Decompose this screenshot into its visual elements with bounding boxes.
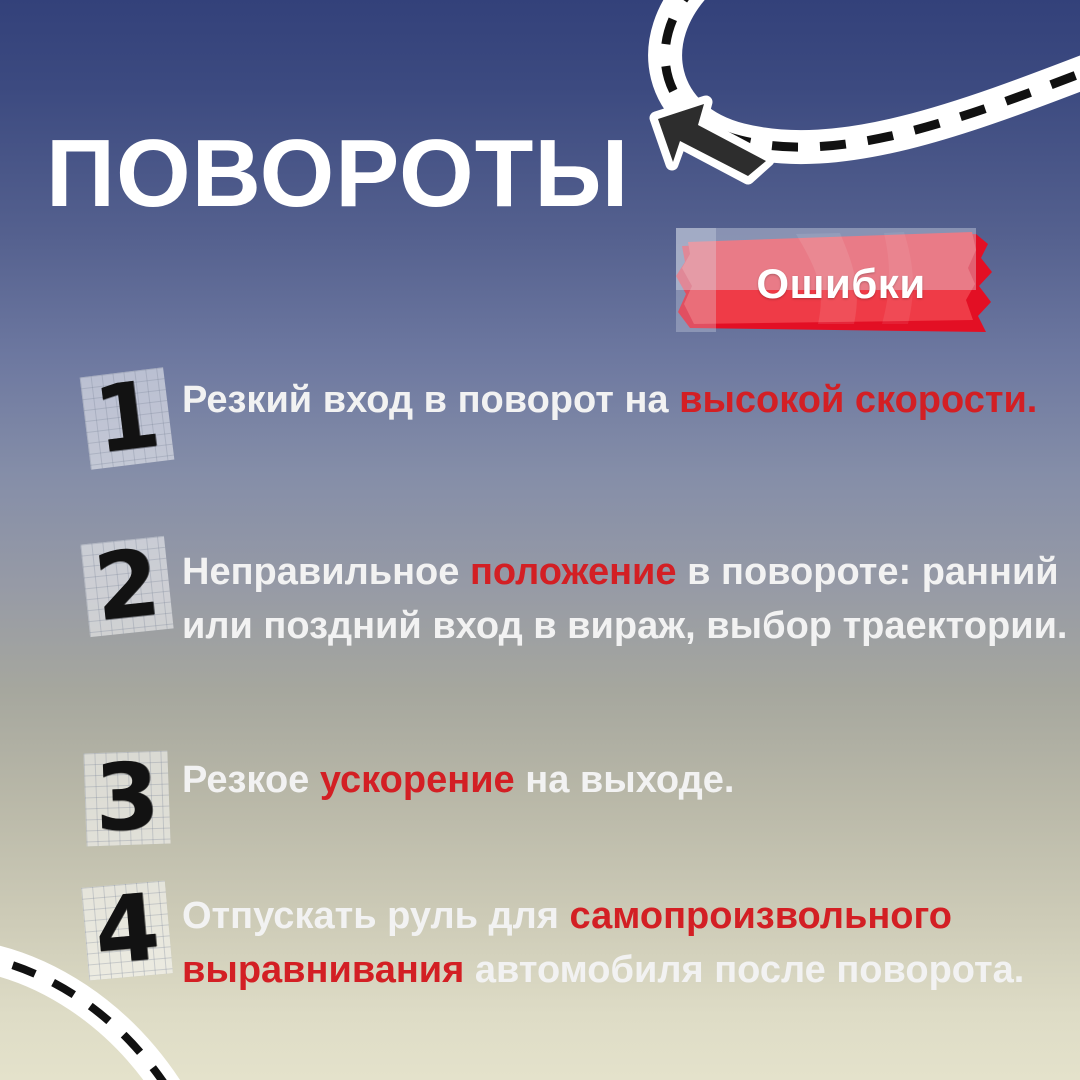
status-badge: Ошибки [676,228,1016,340]
list-item-text: Резкий вход в поворот на высокой скорост… [182,372,1072,428]
list-number: 1 [72,372,182,465]
list-item: 2 Неправильное положение в повороте: ран… [72,540,1072,654]
text-segment-highlight: положение [470,551,677,593]
number-glyph: 3 [94,755,161,842]
text-segment: Резкое [182,759,320,801]
text-segment: на выходе. [515,759,735,801]
text-segment: Отпускать руль для [182,895,570,937]
text-segment-highlight: высокой скорости. [679,379,1037,421]
list-item: 4 Отпускать руль для самопроизвольного в… [72,884,1072,998]
list-item-text: Резкое ускорение на выходе. [182,752,1072,808]
badge-label: Ошибки [676,228,1006,340]
list-number: 3 [72,752,182,845]
list-item: 1 Резкий вход в поворот на высокой скоро… [72,372,1072,465]
text-segment: Резкий вход в поворот на [182,379,679,421]
poster-canvas: ПОВОРОТЫ Ошибки 1 Резкий вход в пово [0,0,1080,1080]
list-number: 2 [72,540,182,633]
curved-arrow-icon [656,102,768,178]
road-dash-marks [665,0,1080,147]
list-item: 3 Резкое ускорение на выходе. [72,752,1072,845]
number-paper-tile: 4 [81,881,173,981]
text-segment: автомобиля после поворота. [464,949,1024,991]
number-glyph: 2 [91,541,164,632]
list-number: 4 [72,884,182,977]
text-segment: Неправильное [182,551,470,593]
text-segment-highlight: ускорение [320,759,515,801]
list-item-text: Отпускать руль для самопроизвольного выр… [182,884,1072,998]
number-paper-tile: 2 [80,536,173,637]
dashed-road-curve-icon [665,0,1080,147]
number-glyph: 4 [91,885,162,975]
page-title: ПОВОРОТЫ [46,126,629,222]
list-item-text: Неправильное положение в повороте: ранни… [182,540,1072,654]
number-paper-tile: 1 [80,367,175,469]
number-paper-tile: 3 [83,751,170,847]
number-glyph: 1 [90,372,164,464]
